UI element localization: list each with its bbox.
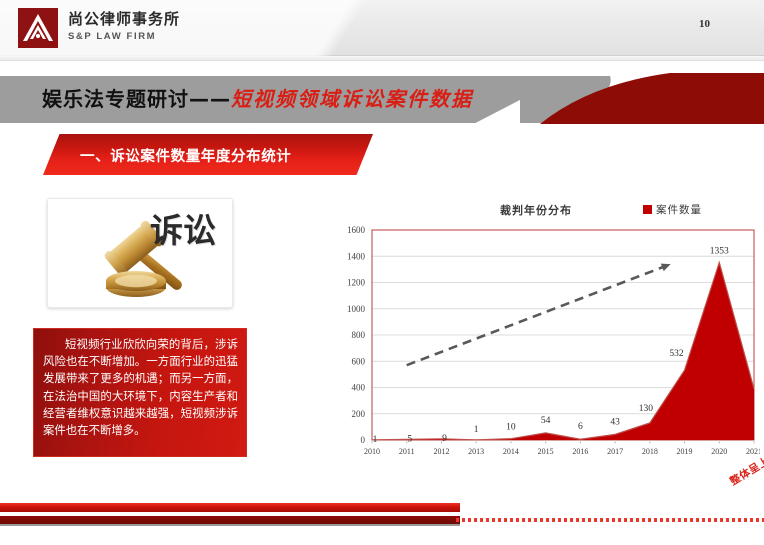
description-paragraph: 短视频行业欣欣向荣的背后，涉诉风险也在不断增加。一方面行业的迅猛发展带来了更多的… xyxy=(43,336,238,439)
svg-text:2015: 2015 xyxy=(538,447,554,456)
svg-text:9: 9 xyxy=(442,434,447,444)
svg-text:5: 5 xyxy=(407,434,412,444)
svg-text:1400: 1400 xyxy=(347,251,366,261)
svg-text:1: 1 xyxy=(373,435,378,445)
case-count-chart: 裁判年份分布 案件数量 0200400600800100012001400160… xyxy=(330,196,760,471)
firm-logo: 尚公律师事务所 S&P LAW FIRM xyxy=(18,8,180,48)
bottom-dotted-line xyxy=(456,518,764,522)
svg-text:6: 6 xyxy=(578,422,583,432)
svg-text:1: 1 xyxy=(474,425,479,435)
svg-text:2011: 2011 xyxy=(399,447,415,456)
svg-text:0: 0 xyxy=(361,435,366,445)
svg-text:2017: 2017 xyxy=(607,447,623,456)
firm-name-cn: 尚公律师事务所 xyxy=(68,12,180,27)
svg-text:130: 130 xyxy=(639,404,654,414)
header-red-swoosh xyxy=(520,62,764,128)
bottom-bar-dark-red xyxy=(0,516,460,524)
svg-text:400: 400 xyxy=(352,383,366,393)
slide: 尚公律师事务所 S&P LAW FIRM 10 娱乐法专题研讨——短视频领域诉讼… xyxy=(0,0,764,545)
firm-name-en: S&P LAW FIRM xyxy=(68,32,180,42)
svg-text:2020: 2020 xyxy=(711,447,727,456)
svg-text:43: 43 xyxy=(610,417,620,427)
svg-text:2012: 2012 xyxy=(433,447,449,456)
bottom-bar-red xyxy=(0,503,460,512)
svg-text:200: 200 xyxy=(352,409,366,419)
svg-text:2016: 2016 xyxy=(572,447,588,456)
section-heading: 一、诉讼案件数量年度分布统计 xyxy=(80,145,291,166)
svg-text:600: 600 xyxy=(352,356,366,366)
svg-text:1200: 1200 xyxy=(347,278,366,288)
picture-caption: 诉讼 xyxy=(150,213,216,249)
svg-text:2018: 2018 xyxy=(642,447,658,456)
svg-text:10: 10 xyxy=(506,423,516,433)
svg-text:800: 800 xyxy=(352,330,366,340)
gavel-image: 诉讼 xyxy=(47,198,233,308)
page-title-red: 短视频领域诉讼案件数据 xyxy=(231,87,473,111)
triangle-a-logo-icon xyxy=(18,8,58,48)
page-title-black: 娱乐法专题研讨—— xyxy=(42,87,231,111)
bottom-bar-gray xyxy=(0,524,460,526)
svg-text:1600: 1600 xyxy=(347,225,366,235)
svg-text:2021: 2021 xyxy=(746,447,760,456)
svg-text:2014: 2014 xyxy=(503,447,519,456)
svg-text:54: 54 xyxy=(541,416,551,426)
page-number: 10 xyxy=(699,18,710,30)
svg-text:532: 532 xyxy=(669,349,684,359)
svg-text:1353: 1353 xyxy=(710,246,729,256)
svg-text:2010: 2010 xyxy=(364,447,380,456)
description-textbox: 短视频行业欣欣向荣的背后，涉诉风险也在不断增加。一方面行业的迅猛发展带来了更多的… xyxy=(33,328,247,457)
svg-text:2019: 2019 xyxy=(677,447,693,456)
svg-text:2013: 2013 xyxy=(468,447,484,456)
page-title: 娱乐法专题研讨——短视频领域诉讼案件数据 xyxy=(42,84,473,114)
svg-text:1000: 1000 xyxy=(347,304,366,314)
firm-name: 尚公律师事务所 S&P LAW FIRM xyxy=(68,12,180,44)
header-underline xyxy=(0,56,764,61)
